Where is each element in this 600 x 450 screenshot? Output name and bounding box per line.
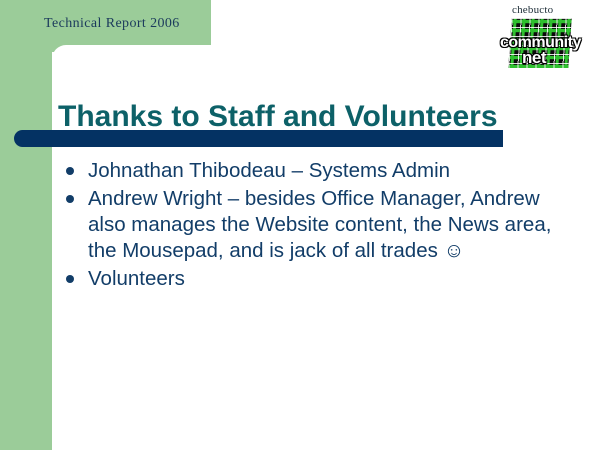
bullet-point-icon bbox=[66, 167, 74, 175]
title-divider-bar bbox=[14, 130, 503, 147]
list-item: Volunteers bbox=[58, 266, 563, 292]
bullet-list: Johnathan Thibodeau – Systems Admin Andr… bbox=[58, 158, 563, 294]
logo-word-net: net bbox=[522, 48, 546, 68]
list-item: Andrew Wright – besides Office Manager, … bbox=[58, 186, 563, 264]
list-item-label: Andrew Wright – besides Office Manager, … bbox=[88, 186, 563, 264]
logo-word-chebucto: chebucto bbox=[512, 4, 553, 16]
presentation-slide: Technical Report 2006 chebucto community… bbox=[0, 0, 600, 450]
list-item-label: Johnathan Thibodeau – Systems Admin bbox=[88, 158, 563, 184]
report-label: Technical Report 2006 bbox=[44, 16, 180, 32]
list-item-label: Volunteers bbox=[88, 266, 563, 292]
list-item: Johnathan Thibodeau – Systems Admin bbox=[58, 158, 563, 184]
bullet-point-icon bbox=[66, 195, 74, 203]
bullet-point-icon bbox=[66, 275, 74, 283]
slide-title: Thanks to Staff and Volunteers bbox=[58, 100, 558, 134]
chebucto-community-net-logo: chebucto community net bbox=[498, 4, 590, 72]
green-sidebar-accent bbox=[0, 0, 52, 450]
